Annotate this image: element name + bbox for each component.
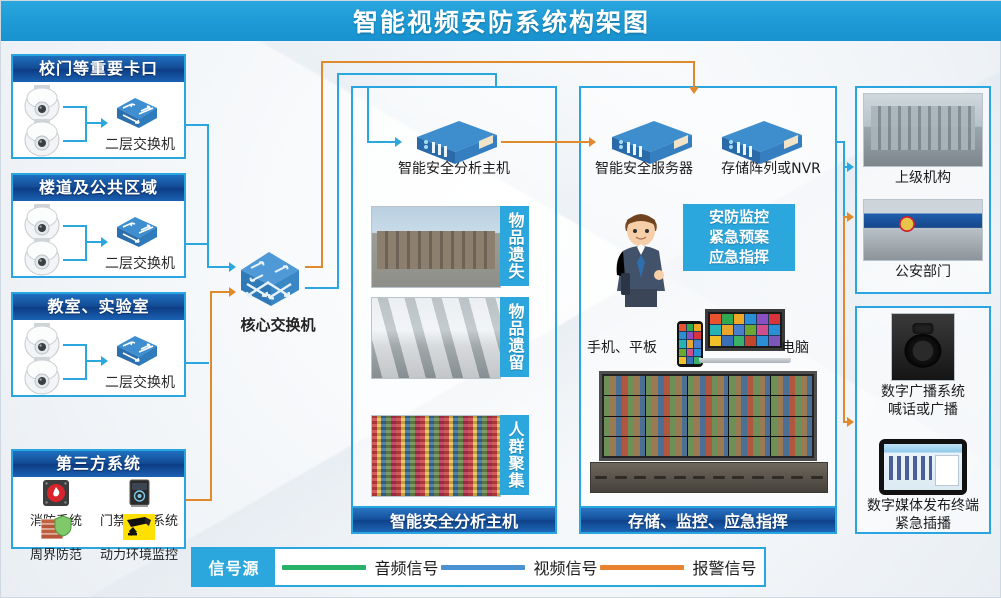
third-party-label: 周界防范 xyxy=(30,548,82,563)
link-thirdparty-h xyxy=(186,499,212,501)
video-wall-screen xyxy=(599,371,817,461)
link-thirdparty-v xyxy=(210,291,212,501)
video-core-out xyxy=(305,287,339,289)
video-bus-v2 xyxy=(495,73,497,87)
agency-police: 公安部门 xyxy=(863,199,983,282)
operator-avatar xyxy=(601,201,681,309)
core-bus-in xyxy=(207,266,229,268)
legend-label-video: 视频信号 xyxy=(533,555,597,579)
switch-label: 二层交换机 xyxy=(105,372,175,392)
corridor-photo xyxy=(371,297,501,379)
laptop-icon xyxy=(705,309,785,363)
agency-caption: 公安部门 xyxy=(863,264,983,282)
camera-group-corridor-body: 二层交换机 xyxy=(13,201,184,278)
scene-left-behind: 物品遗留 xyxy=(371,297,529,377)
wall-cell xyxy=(604,417,645,436)
ptz-camera-icon xyxy=(19,118,65,158)
wall-cell xyxy=(771,417,812,436)
server-icon xyxy=(596,119,696,167)
link-corridor-to-core xyxy=(186,243,209,245)
alarm-core-out xyxy=(305,266,323,268)
legend-items: 音频信号 视频信号 报警信号 xyxy=(275,549,764,585)
alarm-bus-down-v xyxy=(693,61,695,89)
alarm-bus-top-h xyxy=(321,61,695,63)
third-party-group: 第三方系统 消防系统 xyxy=(11,449,186,549)
action-line-1: 安防监控 xyxy=(691,208,787,228)
server-icon xyxy=(401,119,501,167)
agency-caption: 上级机构 xyxy=(863,170,983,188)
wall-cell xyxy=(646,396,687,415)
video-bus-h1 xyxy=(337,73,497,75)
action-box: 安防监控 紧急预案 应急指挥 xyxy=(683,204,795,271)
video-wall-cabinet xyxy=(590,462,827,493)
video-bus-v1 xyxy=(337,73,339,289)
storage-array-icon xyxy=(706,119,806,167)
legend-label-audio: 音频信号 xyxy=(374,555,438,579)
cctv-camera-icon xyxy=(122,513,156,543)
legend-swatch-audio xyxy=(282,565,366,570)
third-party-label: 动力环境监控 xyxy=(100,548,178,563)
alarm-to-broadcast-v xyxy=(843,216,845,423)
layer2-switch-icon xyxy=(109,94,161,128)
third-party-header: 第三方系统 xyxy=(13,451,184,477)
ptz-camera-icon xyxy=(19,356,65,396)
legend-title: 信号源 xyxy=(193,549,275,585)
core-switch-icon xyxy=(233,246,305,310)
wall-cell xyxy=(729,376,770,395)
third-party-item-power-env: 动力环境监控 xyxy=(95,513,183,563)
digital-signage-card: 数字媒体发布终端 紧急插播 xyxy=(863,439,983,533)
core-bus-vertical xyxy=(207,124,209,268)
camera-group-classroom: 教室、实验室 xyxy=(11,292,186,397)
action-line-3: 应急指挥 xyxy=(691,248,787,268)
analysis-host-footer: 智能安全分析主机 xyxy=(351,506,557,534)
layer2-switch-icon xyxy=(109,332,161,366)
scene-tag: 物品遗留 xyxy=(500,297,529,377)
wall-cell xyxy=(729,437,770,456)
action-line-2: 紧急预案 xyxy=(691,228,787,248)
scene-tag: 物品遗失 xyxy=(500,206,529,286)
legend-item-alarm: 报警信号 xyxy=(600,555,756,579)
camera-group-corridor: 楼道及公共区域 xyxy=(11,173,186,278)
camera-group-corridor-header: 楼道及公共区域 xyxy=(13,175,184,201)
government-building-photo xyxy=(863,93,983,167)
wall-cell xyxy=(771,437,812,456)
signage-caption-line2: 紧急插播 xyxy=(863,516,983,534)
school-gate-photo xyxy=(371,206,501,288)
camera-group-classroom-header: 教室、实验室 xyxy=(13,294,184,320)
video-branch-analysis-h xyxy=(367,141,397,143)
computer-label: 电脑 xyxy=(781,337,837,357)
legend-item-video: 视频信号 xyxy=(441,555,597,579)
broadcast-caption-line2: 喊话或广播 xyxy=(863,402,983,420)
mobile-devices-label: 手机、平板 xyxy=(587,337,671,357)
layer2-switch-icon xyxy=(109,213,161,247)
ptz-camera-icon xyxy=(19,237,65,277)
link-classroom-to-core xyxy=(186,362,209,364)
agency-superior: 上级机构 xyxy=(863,93,983,188)
police-station-photo xyxy=(863,199,983,261)
speaker-photo xyxy=(891,313,955,381)
legend-item-audio: 音频信号 xyxy=(282,555,438,579)
wall-cell xyxy=(771,376,812,395)
scene-tag: 人群聚集 xyxy=(500,415,529,495)
wall-cell xyxy=(604,437,645,456)
third-party-item-perimeter: 周界防范 xyxy=(17,513,95,563)
access-control-icon xyxy=(122,479,156,509)
fire-alarm-icon xyxy=(39,479,73,509)
police-in-arrow xyxy=(847,212,854,222)
analysis-in-arrow xyxy=(395,137,402,147)
camera-group-gate-header: 校门等重要卡口 xyxy=(13,56,184,82)
wall-cell xyxy=(771,396,812,415)
wall-cell xyxy=(646,376,687,395)
broadcast-in-arrow xyxy=(847,417,854,427)
video-wall xyxy=(599,371,817,493)
video-wall-grid xyxy=(604,376,812,456)
alarm-bus-arrow xyxy=(689,87,699,94)
camera-group-classroom-body: 二层交换机 xyxy=(13,320,184,397)
control-in-arrow xyxy=(589,137,596,147)
page-title: 智能视频安防系统构架图 xyxy=(353,3,650,39)
wall-cell xyxy=(604,396,645,415)
switch-label: 二层交换机 xyxy=(105,253,175,273)
control-to-right-h xyxy=(837,141,845,143)
alarm-bus-left-v xyxy=(321,61,323,267)
crowd-photo xyxy=(371,415,501,497)
wall-cell xyxy=(646,417,687,436)
link-thirdparty-core xyxy=(210,291,229,293)
wall-cell xyxy=(688,437,729,456)
scene-lost-item: 物品遗失 xyxy=(371,206,529,286)
wall-cell xyxy=(729,417,770,436)
digital-broadcast-card: 数字广播系统 喊话或广播 xyxy=(863,313,983,419)
analysis-to-control-h xyxy=(501,141,591,143)
wall-cell xyxy=(729,396,770,415)
wall-cell xyxy=(646,437,687,456)
link-gate-to-core xyxy=(186,124,209,126)
camera-group-gate-body: 二层交换机 xyxy=(13,82,184,159)
broadcast-caption-line1: 数字广播系统 xyxy=(863,384,983,402)
wall-cell xyxy=(604,376,645,395)
third-party-body: 消防系统 门禁巡更系统 xyxy=(13,477,184,547)
switch-label: 二层交换机 xyxy=(105,134,175,154)
signage-caption-line1: 数字媒体发布终端 xyxy=(863,498,983,516)
core-switch-label: 核心交换机 xyxy=(223,314,333,335)
perimeter-shield-icon xyxy=(39,513,73,543)
wall-cell xyxy=(688,417,729,436)
superior-in-arrow xyxy=(847,162,854,172)
legend-label-alarm: 报警信号 xyxy=(692,555,756,579)
control-center-footer: 存储、监控、应急指挥 xyxy=(579,506,837,534)
camera-group-gate: 校门等重要卡口 xyxy=(11,54,186,159)
video-branch-analysis-v xyxy=(367,86,369,142)
legend-swatch-video xyxy=(441,565,525,570)
page-title-bar: 智能视频安防系统构架图 xyxy=(1,1,1001,41)
wall-cell xyxy=(688,376,729,395)
legend-swatch-alarm xyxy=(600,565,684,570)
scene-crowd-gathering: 人群聚集 xyxy=(371,415,529,495)
digital-signage-photo xyxy=(879,439,967,495)
diagram-canvas: 智能视频安防系统构架图 校门等重要卡口 xyxy=(0,0,1001,598)
wall-cell xyxy=(688,396,729,415)
legend: 信号源 音频信号 视频信号 报警信号 xyxy=(191,547,766,587)
